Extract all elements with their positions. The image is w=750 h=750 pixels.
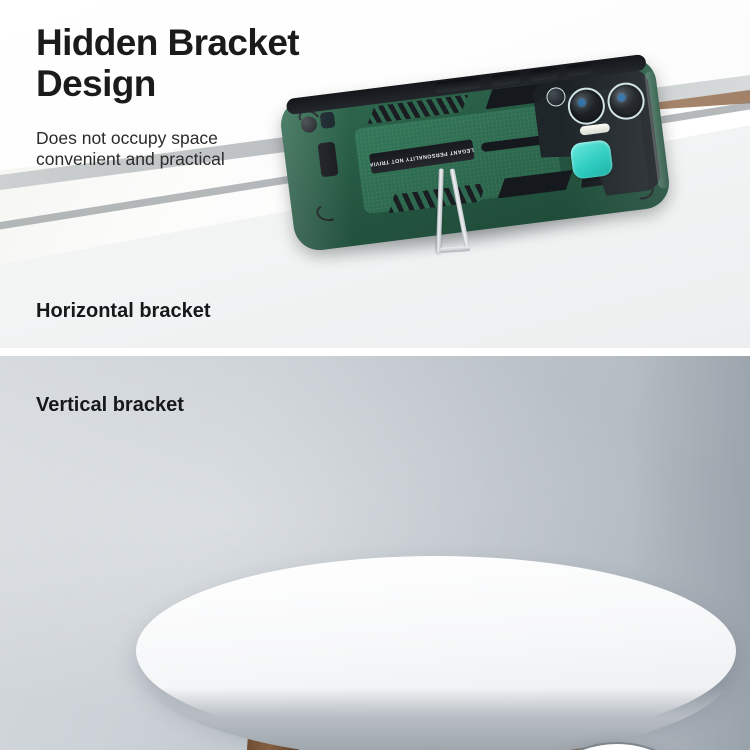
panel-divider <box>0 348 750 356</box>
subtitle: Does not occupy space convenient and pra… <box>36 128 225 170</box>
kickstand-wire-foot <box>440 246 470 253</box>
kickstand-wire-right <box>449 169 469 250</box>
page-title: Hidden Bracket Design <box>36 22 299 104</box>
button-cover-power <box>566 63 593 77</box>
button-cover-volume <box>435 77 482 94</box>
top-panel-horizontal-bracket: ELEGANT PERSONALITY NOT TRIVIAL <box>0 0 750 348</box>
product-infographic: ELEGANT PERSONALITY NOT TRIVIAL <box>0 0 750 750</box>
kickstand-wire-horizontal <box>408 165 481 268</box>
bottom-panel-vertical-bracket: Vertical bracket 90° <box>0 356 750 750</box>
headline-line-2: Design <box>36 63 299 104</box>
button-cover-2 <box>528 67 559 82</box>
caption-vertical-bracket: Vertical bracket <box>36 394 184 417</box>
kickstand-wire-left <box>436 169 443 253</box>
subtitle-line-2: convenient and practical <box>36 149 225 170</box>
caption-horizontal-bracket: Horizontal bracket <box>36 300 210 323</box>
button-cover-1 <box>490 72 521 87</box>
subtitle-line-1: Does not occupy space <box>36 128 225 149</box>
headline-line-1: Hidden Bracket <box>36 22 299 63</box>
